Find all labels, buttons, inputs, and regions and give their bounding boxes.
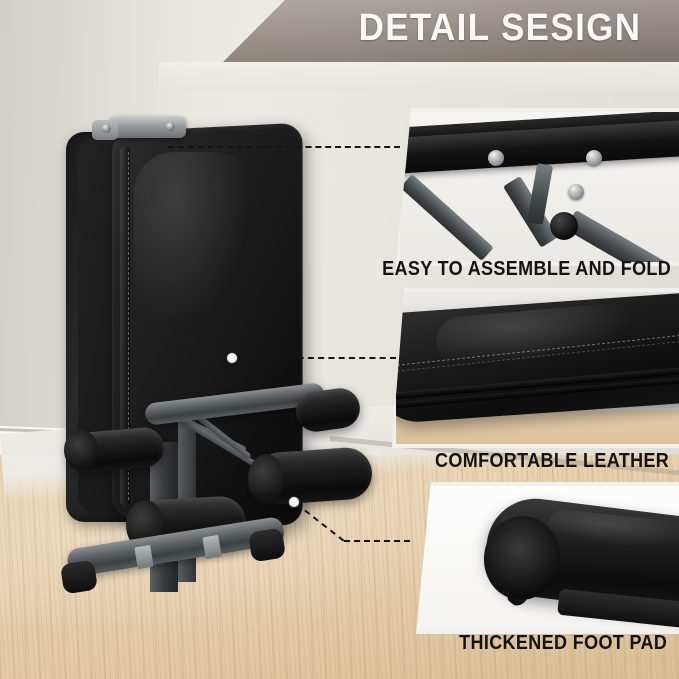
caption-thickened-foot-pad: THICKENED FOOT PAD	[459, 632, 667, 655]
hinge-bolt-icon	[166, 122, 175, 131]
adjustment-knob	[550, 212, 578, 240]
hinge-bolt-icon	[102, 124, 111, 133]
connector-2-marker	[226, 352, 238, 364]
foot-bar-clamp	[202, 535, 221, 559]
connector-3-marker	[288, 496, 300, 508]
inset-leather-padding	[392, 288, 679, 448]
caption-easy-to-assemble-and-fold: EASY TO ASSEMBLE AND FOLD	[382, 258, 671, 281]
foot-bar-end-cap	[60, 560, 98, 595]
caption-comfortable-leather: COMFORTABLE LEATHER	[435, 450, 669, 473]
bolt-icon	[586, 150, 602, 166]
connector-1	[168, 146, 400, 148]
foot-bar-end-cap	[248, 528, 286, 563]
connector-3-segment-b	[344, 540, 410, 542]
foot-bar-clamp	[134, 545, 153, 569]
connector-2	[236, 357, 396, 359]
pad-highlight	[134, 152, 254, 332]
inset-hinge-mechanism	[396, 108, 679, 266]
bolt-icon	[488, 150, 504, 166]
roller-end-cap	[64, 430, 98, 470]
banner-underglow	[159, 62, 679, 92]
bolt-icon	[568, 184, 584, 200]
product-detail-image: DETAIL SESIGN	[0, 0, 679, 679]
banner-title: DETAIL SESIGN	[358, 7, 641, 50]
roller-end-cap	[248, 454, 284, 504]
inset-foam-foot-pad	[404, 482, 679, 634]
